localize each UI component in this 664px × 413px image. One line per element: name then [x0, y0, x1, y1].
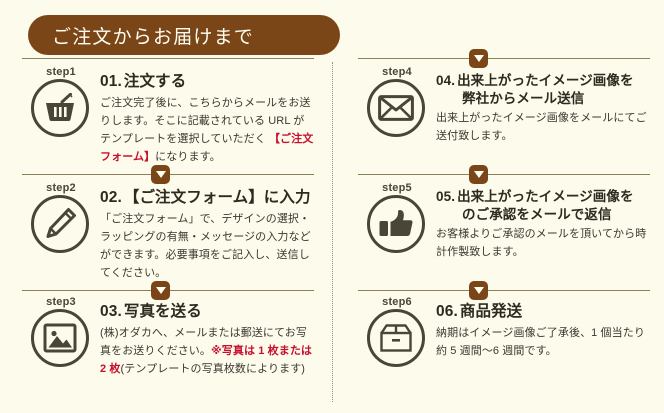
shipping-box-icon [367, 309, 425, 367]
step-text-group: 03.写真を送る(株)オダカへ、メールまたは郵送にてお写真をお送りください。※写… [100, 296, 314, 379]
step-heading: 01.注文する [100, 72, 314, 92]
step-text-group: 06.商品発送納期はイメージ画像ご了承後、1 個当たり約 5 週間〜6 週間です… [436, 296, 650, 361]
step-description: ご注文完了後に、こちらからメールをお送りします。そこに記載されている URL が… [100, 95, 314, 166]
step-text-group: 02.【ご注文フォーム】に入力「ご注文フォーム」で、デザインの選択・ラッピングの… [100, 182, 314, 282]
step-description: お客様よりご承認のメールを頂いてから時計作製致します。 [436, 226, 650, 262]
thumbs-up-icon [367, 195, 425, 253]
step-text-group: 04.出来上がったイメージ画像を弊社からメール送信出来上がったイメージ画像をメー… [436, 66, 650, 146]
body-text: お客様よりご承認のメールを頂いてから時計作製致します。 [436, 228, 646, 258]
step-icon-group: step1 [22, 66, 100, 144]
right-column: step404.出来上がったイメージ画像を弊社からメール送信出来上がったイメージ… [332, 0, 664, 413]
body-text: 出来上がったイメージ画像をメールにてご送付致します。 [436, 112, 647, 142]
section-divider-rule [358, 174, 650, 175]
step-icon-group: step6 [358, 296, 436, 374]
step-text-group: 01.注文するご注文完了後に、こちらからメールをお送りします。そこに記載されてい… [100, 66, 314, 166]
step-heading: 06.商品発送 [436, 302, 650, 322]
step-number-label: step5 [358, 182, 436, 194]
step-description: 「ご注文フォーム」で、デザインの選択・ラッピングの有無・メッセージの入力などがで… [100, 211, 314, 282]
envelope-mail-icon [367, 79, 425, 137]
step-heading: 04.出来上がったイメージ画像を弊社からメール送信 [436, 72, 650, 107]
step-heading-line2: のご承認をメールで返信 [436, 206, 650, 224]
step-block-step2: step202.【ご注文フォーム】に入力「ご注文フォーム」で、デザインの選択・ラ… [0, 182, 332, 282]
step-description: (株)オダカへ、メールまたは郵送にてお写真をお送りください。※写真は 1 枚また… [100, 325, 314, 378]
section-divider-rule [22, 58, 314, 59]
left-column: step101.注文するご注文完了後に、こちらからメールをお送りします。そこに記… [0, 0, 332, 413]
shopping-basket-icon [31, 79, 89, 137]
step-block-step5: step505.出来上がったイメージ画像をのご承認をメールで返信お客様よりご承認… [332, 182, 664, 262]
step-description: 納期はイメージ画像ご了承後、1 個当たり約 5 週間〜6 週間です。 [436, 325, 650, 361]
step-description: 出来上がったイメージ画像をメールにてご送付致します。 [436, 110, 650, 146]
step-icon-group: step4 [358, 66, 436, 144]
step-number-label: step3 [22, 296, 100, 308]
step-number-label: step4 [358, 66, 436, 78]
step-heading: 05.出来上がったイメージ画像をのご承認をメールで返信 [436, 188, 650, 223]
step-heading: 02.【ご注文フォーム】に入力 [100, 188, 314, 208]
body-text: になります。 [155, 151, 221, 163]
step-heading-line2: 弊社からメール送信 [436, 90, 650, 108]
body-text: (テンプレートの写真枚数によります) [120, 363, 305, 375]
step-number-label: step1 [22, 66, 100, 78]
step-icon-group: step5 [358, 182, 436, 260]
photo-image-icon [31, 309, 89, 367]
body-text: 納期はイメージ画像ご了承後、1 個当たり約 5 週間〜6 週間です。 [436, 327, 645, 357]
step-block-step1: step101.注文するご注文完了後に、こちらからメールをお送りします。そこに記… [0, 66, 332, 166]
step-text-group: 05.出来上がったイメージ画像をのご承認をメールで返信お客様よりご承認のメールを… [436, 182, 650, 262]
section-divider-rule [358, 58, 650, 59]
step-block-step3: step303.写真を送る(株)オダカへ、メールまたは郵送にてお写真をお送りくだ… [0, 296, 332, 379]
body-text: 「ご注文フォーム」で、デザインの選択・ラッピングの有無・メッセージの入力などがで… [100, 213, 311, 278]
step-number-label: step6 [358, 296, 436, 308]
step-block-step6: step606.商品発送納期はイメージ画像ご了承後、1 個当たり約 5 週間〜6… [332, 296, 664, 374]
step-heading: 03.写真を送る [100, 302, 314, 322]
step-icon-group: step2 [22, 182, 100, 260]
order-flow-infographic: ご注文からお届けまで step101.注文するご注文完了後に、こちらからメールを… [0, 0, 664, 413]
pencil-icon [31, 195, 89, 253]
step-number-label: step2 [22, 182, 100, 194]
step-block-step4: step404.出来上がったイメージ画像を弊社からメール送信出来上がったイメージ… [332, 66, 664, 146]
step-icon-group: step3 [22, 296, 100, 374]
section-divider-rule [358, 290, 650, 291]
